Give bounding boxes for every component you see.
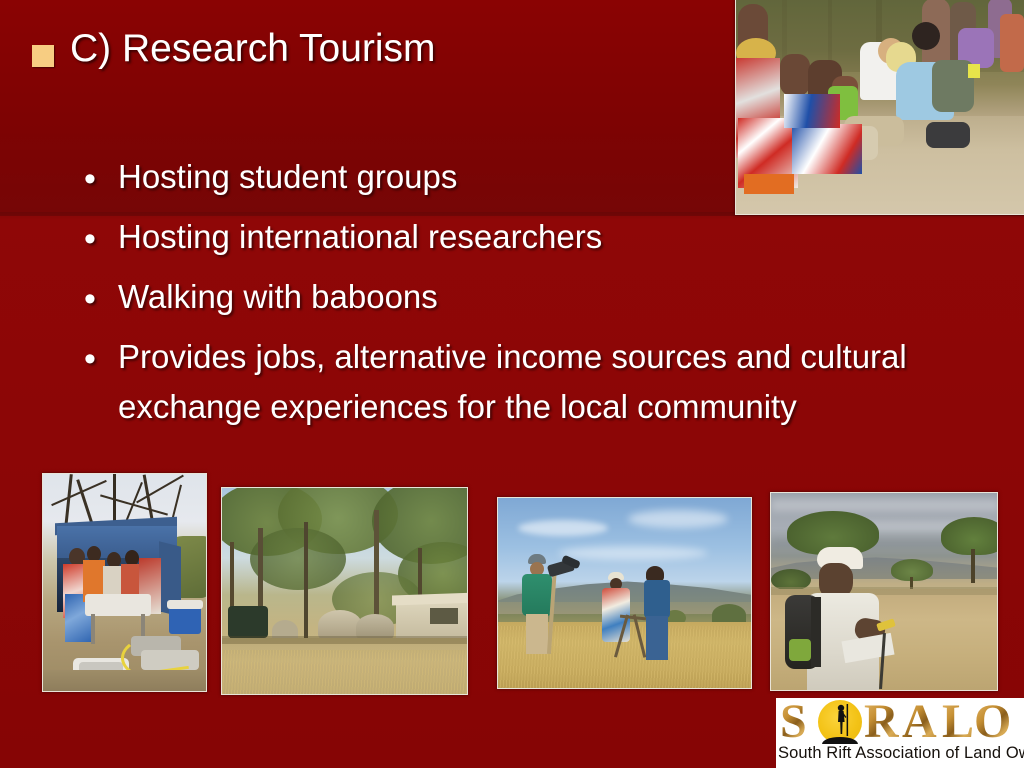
photo-fieldwork bbox=[497, 497, 752, 689]
list-item: • Walking with baboons bbox=[84, 272, 964, 326]
soralo-wordmark: S R A L O bbox=[776, 698, 1024, 746]
bullet-dot-icon: • bbox=[84, 272, 118, 326]
bullet-dot-icon: • bbox=[84, 152, 118, 206]
bullet-text: Hosting international researchers bbox=[118, 212, 602, 262]
bullet-dot-icon: • bbox=[84, 212, 118, 266]
list-item: • Provides jobs, alternative income sour… bbox=[84, 332, 964, 432]
soralo-logo: S R A L O South Rift Association of Land… bbox=[776, 698, 1024, 768]
list-item: • Hosting international researchers bbox=[84, 212, 964, 266]
logo-letter-s: S bbox=[780, 698, 807, 746]
page-title: C) Research Tourism bbox=[70, 28, 436, 69]
bullet-dot-icon: • bbox=[84, 332, 118, 386]
photo-bush-campsite bbox=[221, 487, 468, 695]
slide-title-row: C) Research Tourism bbox=[32, 28, 436, 69]
bullet-list: • Hosting student groups • Hosting inter… bbox=[84, 152, 964, 438]
title-bullet-square-icon bbox=[32, 45, 54, 67]
logo-ground-mound bbox=[822, 737, 858, 744]
logo-letter-r: R bbox=[864, 698, 899, 746]
logo-letter-a: A bbox=[902, 698, 937, 746]
logo-tagline: South Rift Association of Land Owners bbox=[778, 744, 1022, 763]
logo-letter-o2: O bbox=[974, 698, 1011, 746]
photo-researcher-clipboard bbox=[770, 492, 998, 691]
photo-camp-kitchen bbox=[42, 473, 207, 692]
list-item: • Hosting student groups bbox=[84, 152, 964, 206]
bullet-text: Provides jobs, alternative income source… bbox=[118, 332, 933, 432]
bullet-text: Walking with baboons bbox=[118, 272, 438, 322]
bullet-text: Hosting student groups bbox=[118, 152, 457, 202]
slide-canvas: C) Research Tourism • Hosting student gr… bbox=[0, 0, 1024, 768]
logo-letter-l: L bbox=[942, 698, 974, 746]
